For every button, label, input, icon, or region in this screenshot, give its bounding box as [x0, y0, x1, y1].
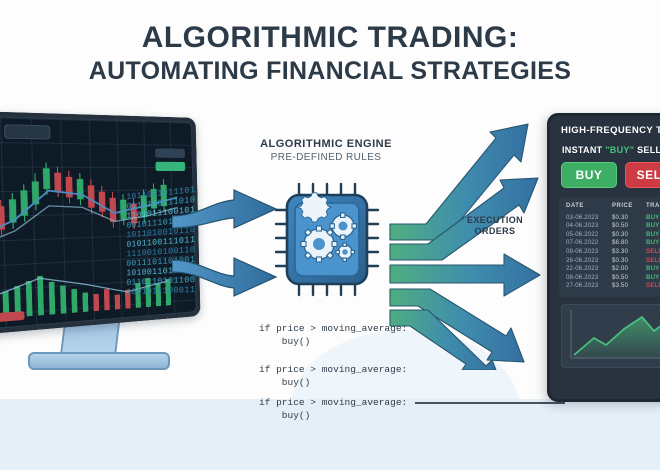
trade-history-table: DATE PRICE TRADE 03-06.2023 $0.30 BUY 04… [559, 197, 660, 297]
candlestick-chart [0, 157, 196, 267]
input-arrow-lower [172, 254, 282, 302]
cell-trade: SELL [646, 248, 660, 257]
hft-panel-subtitle: INSTANT "BUY" SELL [562, 145, 660, 155]
execution-orders-label: EXECUTION ORDERS [452, 215, 538, 237]
screen-toolbar [0, 123, 51, 140]
cell-price: $0.30 [612, 257, 646, 266]
performance-area-chart [561, 304, 660, 368]
cell-price: $0.30 [612, 214, 646, 223]
table-row[interactable]: 08-06.2023 $0.50 BUY [559, 274, 660, 283]
table-row[interactable]: 22-06.2023 $2.00 BUY [559, 265, 660, 274]
column-header-price: PRICE [612, 202, 646, 211]
table-row[interactable]: 04-06.2023 $0.50 BUY [559, 222, 660, 231]
sell-button[interactable]: SELL [625, 162, 660, 188]
cell-price: $0.50 [612, 222, 646, 231]
subtitle-suffix: SELL [634, 145, 660, 155]
cell-date: 22-06.2023 [566, 265, 612, 274]
engine-subtitle: PRE-DEFINED RULES [243, 152, 409, 163]
hft-panel-title: HIGH-FREQUENCY TRADING [561, 125, 660, 136]
execution-label-line-2: ORDERS [452, 226, 538, 237]
trading-monitor [0, 110, 200, 339]
cell-date: 05-06.2022 [566, 231, 612, 240]
infographic-canvas: ALGORITHMIC TRADING: AUTOMATING FINANCIA… [0, 0, 660, 470]
engine-label-group: ALGORITHMIC ENGINE PRE-DEFINED RULES [243, 138, 409, 163]
cell-trade: BUY [646, 239, 660, 248]
table-row[interactable]: 27-06.2023 $3.50 SELL [559, 282, 660, 291]
table-row[interactable]: 05-06.2022 $0.30 BUY [559, 231, 660, 240]
cell-trade: SELL [646, 257, 660, 266]
screen-status-badge [155, 148, 185, 157]
table-row[interactable]: 09-06.2023 $3.30 SELL [559, 248, 660, 257]
column-header-trade: TRADE [646, 202, 660, 211]
code-snippet-2: if price > moving_average: buy() [259, 363, 407, 389]
high-frequency-trading-panel: HIGH-FREQUENCY TRADING INSTANT "BUY" SEL… [547, 113, 660, 402]
cell-price: $0.30 [612, 231, 646, 240]
engine-title: ALGORITHMIC ENGINE [243, 138, 409, 150]
input-arrow-upper [172, 186, 282, 234]
table-header-row: DATE PRICE TRADE [559, 202, 660, 214]
code-snippet-3: if price > moving_average: buy() [259, 396, 407, 422]
cell-date: 07-06.2022 [566, 239, 612, 248]
code-snippet-1: if price > moving_average: buy() [259, 322, 407, 348]
monitor-screen [0, 116, 196, 333]
subtitle-quoted-buy: "BUY" [605, 145, 634, 155]
table-row[interactable]: 07-06.2022 $6.80 BUY [559, 239, 660, 248]
cell-trade: BUY [646, 265, 660, 274]
title-line-primary: ALGORITHMIC TRADING: [0, 22, 660, 54]
cell-trade: BUY [646, 214, 660, 223]
subtitle-prefix: INSTANT [562, 145, 605, 155]
cell-price: $6.80 [612, 239, 646, 248]
title-line-secondary: AUTOMATING FINANCIAL STRATEGIES [0, 57, 660, 85]
cell-trade: BUY [646, 274, 660, 283]
cell-price: $3.50 [612, 282, 646, 291]
cpu-gears-icon [275, 182, 380, 297]
cell-trade: BUY [646, 222, 660, 231]
cell-price: $0.50 [612, 274, 646, 283]
cell-date: 09-06.2023 [566, 248, 612, 257]
cell-price: $3.30 [612, 248, 646, 257]
column-header-date: DATE [566, 202, 612, 211]
monitor-stand-base [28, 352, 170, 370]
cell-date: 26-06.2023 [566, 257, 612, 266]
trade-action-buttons: BUY SELL [561, 162, 660, 188]
table-row[interactable]: 26-06.2023 $0.30 SELL [559, 257, 660, 266]
cell-date: 27-06.2023 [566, 282, 612, 291]
cell-date: 04-06.2023 [566, 222, 612, 231]
cell-price: $2.00 [612, 265, 646, 274]
buy-button[interactable]: BUY [561, 162, 617, 188]
execution-label-line-1: EXECUTION [452, 215, 538, 226]
cell-date: 08-06.2023 [566, 274, 612, 283]
screen-buy-indicator [155, 162, 185, 171]
cell-trade: BUY [646, 231, 660, 240]
cell-trade: SELL [646, 282, 660, 291]
toolbar-button-2[interactable] [4, 124, 51, 139]
table-row[interactable]: 03-06.2023 $0.30 BUY [559, 214, 660, 223]
cell-date: 03-06.2023 [566, 214, 612, 223]
page-title: ALGORITHMIC TRADING: AUTOMATING FINANCIA… [0, 22, 660, 85]
background-hairline-rule [415, 402, 565, 404]
